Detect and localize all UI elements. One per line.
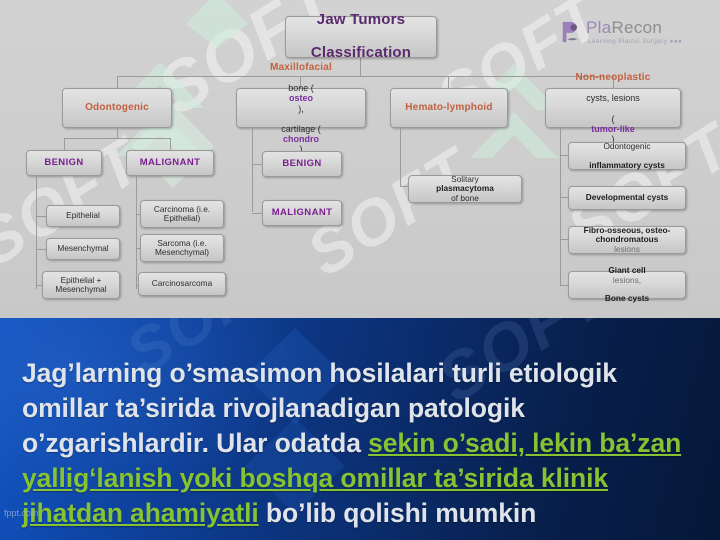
connector <box>64 138 170 139</box>
node-hemato-lymphoid-label: Hemato-lymphoid <box>391 102 507 113</box>
node-odontogenic-label: Odontogenic <box>63 102 171 113</box>
connector <box>560 128 561 286</box>
title-line-1: Jaw Tumors <box>286 12 436 29</box>
leaf-carcinoma: Carcinoma (i.e.Epithelial) <box>140 200 224 228</box>
node-maxillofacial: Maxillofacial bone (osteo), cartilage (c… <box>236 88 366 128</box>
leaf-mesenchymal: Mesenchymal <box>46 238 120 260</box>
plarecon-logo: PlaRecon Learning Plastic Surgery ●●● <box>560 18 706 52</box>
leaf-epithelial: Epithelial <box>46 205 120 227</box>
connector <box>117 128 118 138</box>
caption-segment-2: bo’lib qolishi mumkin <box>259 498 537 528</box>
leaf-giant-cell-lesions: Giant cell lesions,Bone cysts <box>568 271 686 299</box>
fppt-watermark: fppt.com <box>4 508 39 518</box>
logo-tagline: Learning Plastic Surgery ●●● <box>588 38 682 45</box>
leaf-giant-cell-lesions-label: Giant cell lesions,Bone cysts <box>569 266 685 303</box>
connector <box>252 128 253 212</box>
node-maxillofacial-malignant-label: MALIGNANT <box>263 208 341 219</box>
leaf-odontogenic-inflammatory-cysts-label: Odontogenicinflammatory cysts <box>569 142 685 170</box>
node-odontogenic-benign: BENIGN <box>26 150 102 176</box>
node-odontogenic-benign-label: BENIGN <box>27 158 101 169</box>
leaf-odontogenic-inflammatory-cysts: Odontogenicinflammatory cysts <box>568 142 686 170</box>
caption-text: Jag’larning o’smasimon hosilalari turli … <box>22 356 704 531</box>
node-hemato-lymphoid: Hemato-lymphoid <box>390 88 508 128</box>
connector <box>170 138 171 150</box>
connector <box>36 216 46 217</box>
connector <box>64 138 65 150</box>
connector <box>36 176 37 289</box>
node-maxillofacial-label: Maxillofacial <box>237 62 365 73</box>
node-non-neoplastic-sub2: (tumor-like) <box>546 114 680 144</box>
node-maxillofacial-sub1: bone (osteo), <box>237 83 365 113</box>
leaf-solitary-plasmacytoma-label: Solitary plasmacytomaof bone <box>409 175 521 203</box>
node-jaw-tumors-classification: Jaw Tumors Classification <box>285 16 437 58</box>
node-maxillofacial-benign-label: BENIGN <box>263 159 341 170</box>
chevron-watermark-icon <box>182 0 252 50</box>
leaf-fibro-osseous-label: Fibro-osseous, osteo-chondromatous lesio… <box>569 226 685 254</box>
node-maxillofacial-sub2: cartilage (chondro) <box>237 124 365 154</box>
logo-name: PlaRecon <box>586 18 662 38</box>
leaf-sarcoma-label: Sarcoma (i.e.Mesenchymal) <box>141 239 223 258</box>
node-non-neoplastic: Non-neoplastic cysts, lesions (tumor-lik… <box>545 88 681 128</box>
leaf-sarcoma: Sarcoma (i.e.Mesenchymal) <box>140 234 224 262</box>
leaf-developmental-cysts-label: Developmental cysts <box>569 193 685 202</box>
caption-panel: SOFT SOFT Jag’larning o’smasimon hosilal… <box>0 318 720 540</box>
leaf-developmental-cysts: Developmental cysts <box>568 186 686 210</box>
leaf-mesenchymal-label: Mesenchymal <box>47 244 119 253</box>
connector <box>117 76 118 88</box>
title-line-2: Classification <box>286 45 436 62</box>
logo-name-recon: Recon <box>611 18 662 37</box>
logo-mark-icon <box>560 20 582 44</box>
node-non-neoplastic-sub1: cysts, lesions <box>546 93 680 103</box>
connector <box>36 249 46 250</box>
leaf-fibro-osseous: Fibro-osseous, osteo-chondromatous lesio… <box>568 226 686 254</box>
node-maxillofacial-malignant: MALIGNANT <box>262 200 342 226</box>
connector <box>136 176 137 289</box>
leaf-carcinosarcoma: Carcinosarcoma <box>138 272 226 296</box>
leaf-carcinosarcoma-label: Carcinosarcoma <box>139 279 225 288</box>
node-odontogenic: Odontogenic <box>62 88 172 128</box>
leaf-epithelial-mesenchymal: Epithelial +Mesenchymal <box>42 271 120 299</box>
connector <box>400 128 401 186</box>
leaf-solitary-plasmacytoma: Solitary plasmacytomaof bone <box>408 175 522 203</box>
leaf-carcinoma-label: Carcinoma (i.e.Epithelial) <box>141 205 223 224</box>
node-non-neoplastic-label: Non-neoplastic <box>546 72 680 83</box>
connector <box>448 76 449 88</box>
node-odontogenic-malignant-label: MALIGNANT <box>127 158 213 169</box>
slide: SOFT SOFT SOFT SOFT SOFT PlaRecon <box>0 0 720 540</box>
diagram-panel: SOFT SOFT SOFT SOFT SOFT PlaRecon <box>0 0 720 318</box>
leaf-epithelial-mesenchymal-label: Epithelial +Mesenchymal <box>43 276 119 295</box>
logo-name-pla: Pla <box>586 18 611 37</box>
node-maxillofacial-benign: BENIGN <box>262 151 342 177</box>
leaf-epithelial-label: Epithelial <box>47 211 119 220</box>
node-odontogenic-malignant: MALIGNANT <box>126 150 214 176</box>
